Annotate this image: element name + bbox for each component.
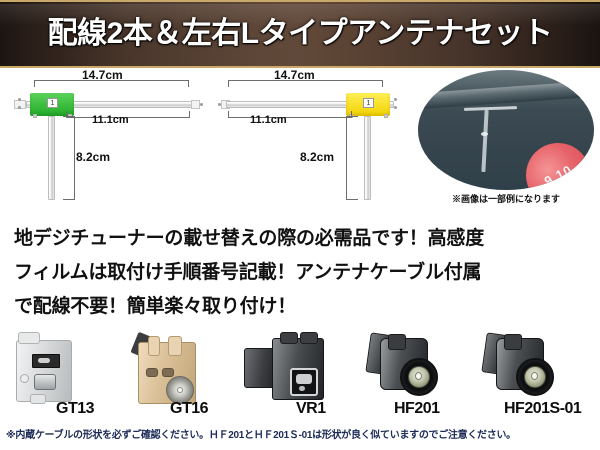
description-line-3: で配線不要！簡単楽々取り付け！ bbox=[14, 290, 586, 324]
left-lead-dot-a bbox=[18, 98, 21, 101]
description-block: 地デジチューナーの載せ替えの際の必需品です！高感度 フィルムは取付け手順番号記載… bbox=[0, 218, 600, 330]
right-pad-number: 1 bbox=[363, 98, 374, 108]
installation-photo-panel: 9 10 ※画像は一部例になります bbox=[414, 68, 598, 216]
left-dim-height-label: 8.2cm bbox=[76, 150, 110, 164]
connector-label-gt16: GT16 bbox=[170, 400, 208, 418]
hf201-image bbox=[368, 332, 446, 406]
left-lead-dot-b bbox=[18, 106, 21, 109]
connector-gallery: GT13 GT16 bbox=[0, 330, 600, 422]
left-pad-number: 1 bbox=[47, 98, 58, 108]
connector-label-gt13: GT13 bbox=[56, 400, 94, 418]
connector-label-vr1: VR1 bbox=[296, 400, 326, 418]
right-pad-foot-b bbox=[384, 114, 388, 118]
page-title: 配線2本＆左右Lタイプアンテナセット bbox=[42, 19, 559, 49]
hf201s01-image bbox=[484, 332, 562, 406]
connector-item-hf201s01: HF201S-01 bbox=[470, 330, 596, 422]
diagram-area: 14.7cm 1 11.1cm 8.2cm bbox=[0, 68, 600, 216]
right-film-vertical bbox=[364, 116, 371, 200]
product-banner: 配線2本＆左右Lタイプアンテナセット 14.7cm 1 11.1cm bbox=[0, 0, 600, 450]
connector-item-vr1: VR1 bbox=[240, 330, 350, 422]
installation-photo: 9 10 bbox=[418, 70, 594, 190]
right-dim-height-label: 8.2cm bbox=[300, 150, 334, 164]
gt13-image bbox=[16, 332, 78, 406]
right-dim-top-label: 14.7cm bbox=[274, 68, 315, 82]
right-dim-bracket-height bbox=[346, 116, 358, 200]
right-dim-inner-label: 11.1cm bbox=[250, 114, 287, 126]
connector-item-gt13: GT13 bbox=[8, 330, 98, 422]
left-lead-tab-right bbox=[191, 100, 200, 109]
vr1-image bbox=[244, 332, 326, 406]
gt16-image bbox=[132, 332, 204, 406]
left-lead-dot-right bbox=[200, 103, 203, 106]
connector-item-gt16: GT16 bbox=[118, 330, 228, 422]
connector-label-hf201: HF201 bbox=[394, 400, 440, 418]
connector-item-hf201: HF201 bbox=[356, 330, 464, 422]
left-pad-foot-a bbox=[33, 114, 37, 118]
right-dim-bracket-inner bbox=[228, 111, 352, 118]
connector-label-hf201s01: HF201S-01 bbox=[504, 400, 581, 418]
description-line-1: 地デジチューナーの載せ替えの際の必需品です！高感度 bbox=[14, 222, 586, 256]
photo-caption: ※画像は一部例になります bbox=[414, 192, 598, 205]
left-dim-bracket-height bbox=[63, 116, 75, 200]
right-lead-dot-b bbox=[394, 106, 397, 109]
left-antenna-diagram: 14.7cm 1 11.1cm 8.2cm bbox=[8, 68, 208, 216]
left-film-vertical bbox=[48, 116, 55, 200]
left-dim-top-label: 14.7cm bbox=[82, 68, 123, 82]
right-lead-dot-a bbox=[394, 98, 397, 101]
header-banner: 配線2本＆左右Lタイプアンテナセット bbox=[0, 0, 600, 68]
description-line-2: フィルムは取付け手順番号記載！アンテナケーブル付属 bbox=[14, 256, 586, 290]
left-dim-inner-label: 11.1cm bbox=[92, 114, 129, 126]
right-antenna-diagram: 14.7cm 1 11.1cm 8.2cm bbox=[212, 68, 412, 216]
footer-note: ※内蔵ケーブルの形状を必ずご確認ください。ＨＦ201とＨＦ201Ｓ-01は形状が… bbox=[0, 424, 600, 450]
